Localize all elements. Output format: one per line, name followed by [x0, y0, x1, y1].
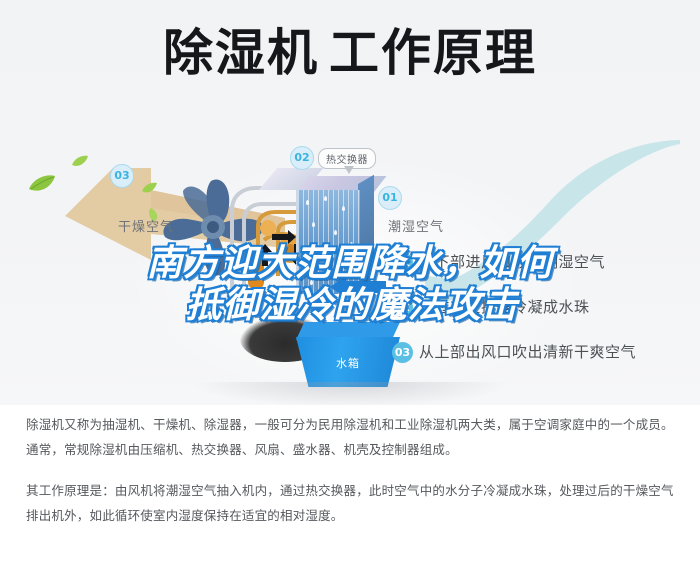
step-item: 01 从下部进风口吸进潮湿空气	[392, 246, 692, 291]
step-text: 从上部出风口吹出清新干爽空气	[419, 341, 636, 362]
leaf-icon	[28, 174, 56, 194]
diagram-badge-01: 01	[378, 186, 402, 210]
step-text: 经过热交换器冷凝成水珠	[419, 296, 590, 317]
diagram-label-dry-air: 干燥空气	[118, 216, 174, 235]
leaf-icon	[72, 155, 88, 168]
water-tank-label: 水箱	[290, 355, 406, 371]
diagram-label-moist-air: 潮湿空气	[388, 216, 444, 235]
hero-illustration-panel: 除湿机工作原理	[0, 0, 700, 405]
step-item: 03 从上部出风口吹出清新干爽空气	[392, 336, 692, 381]
page-title-part1: 除湿机	[163, 24, 319, 82]
page-title: 除湿机工作原理	[0, 24, 700, 82]
diagram-badge-03: 03	[110, 164, 134, 188]
diagram-badge-02: 02	[290, 146, 314, 170]
step-list: 01 从下部进风口吸进潮湿空气 02 经过热交换器冷凝成水珠 03 从上部出风口…	[392, 246, 692, 381]
body-paragraph-2: 其工作原理是：由风机将潮湿空气抽入机内，通过热交换器，此时空气中的水分子冷凝成水…	[26, 478, 676, 528]
step-badge: 02	[392, 297, 413, 318]
body-paragraph-1: 除湿机又称为抽湿机、干燥机、除湿器，一般可分为民用除湿机和工业除湿机两大类，属于…	[26, 412, 676, 462]
callout-tail-icon	[344, 166, 354, 174]
infographic-page: 除湿机工作原理	[0, 0, 700, 566]
step-badge: 01	[392, 252, 413, 273]
step-item: 02 经过热交换器冷凝成水珠	[392, 291, 692, 336]
page-title-part2: 工作原理	[329, 24, 537, 82]
step-badge: 03	[392, 342, 413, 363]
body-copy: 除湿机又称为抽湿机、干燥机、除湿器，一般可分为民用除湿机和工业除湿机两大类，属于…	[26, 412, 676, 528]
inlet-arrow-icon	[330, 276, 386, 298]
floor-reflection	[190, 382, 510, 405]
step-text: 从下部进风口吸进潮湿空气	[419, 251, 605, 272]
